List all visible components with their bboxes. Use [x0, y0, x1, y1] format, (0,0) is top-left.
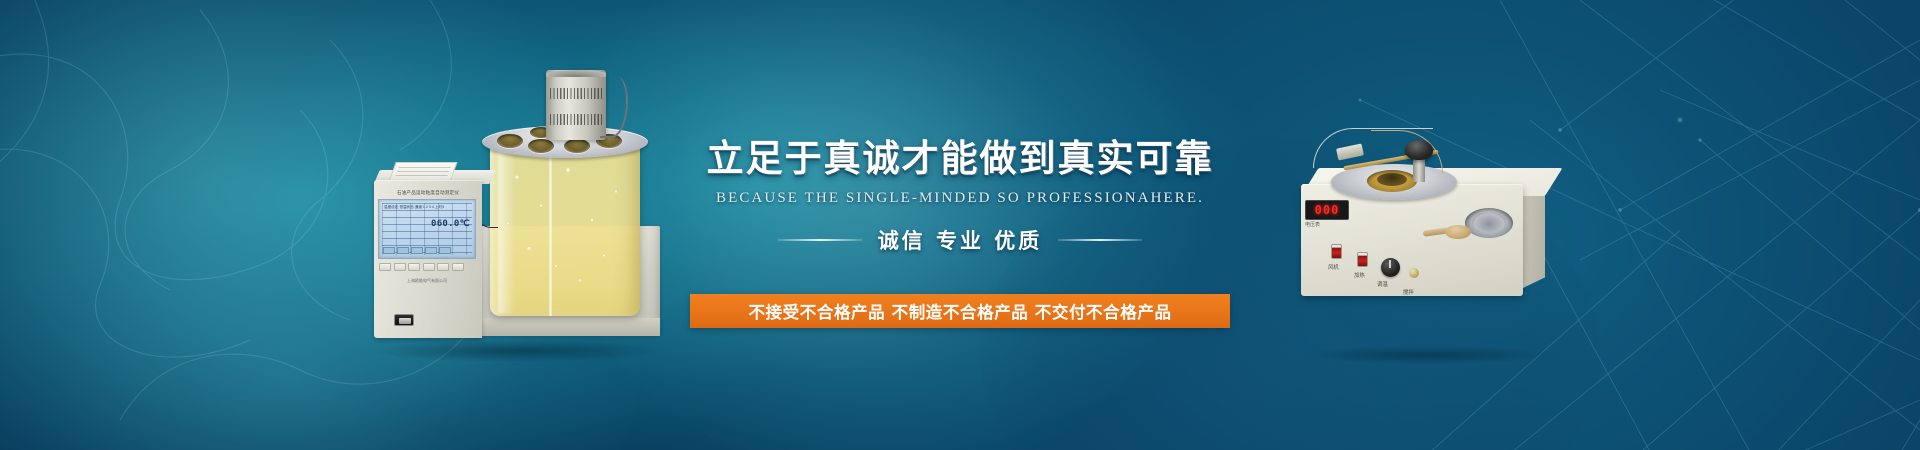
paper-print-lines: [394, 167, 450, 179]
temperature-dial-label: 调温: [1377, 280, 1388, 288]
lcd-temp-value: 060.0: [431, 219, 460, 229]
viscometer-port[interactable]: [528, 139, 554, 153]
divider-line-left: [778, 239, 862, 241]
led-value: 000: [1315, 203, 1340, 217]
lcd-softkey[interactable]: [411, 247, 423, 254]
lcd-softkey[interactable]: [383, 247, 395, 254]
stirrer-rod: [549, 138, 552, 316]
heater-cylinder: [546, 70, 606, 140]
divider-line-right: [1058, 239, 1142, 241]
lcd-softkey[interactable]: [439, 247, 451, 254]
banner-tagline: 诚信 专业 优质: [878, 225, 1043, 255]
keypad-key[interactable]: [423, 263, 435, 271]
banner-tagline-row: 诚信 专业 优质: [690, 225, 1230, 255]
lcd-softkey[interactable]: [397, 247, 409, 254]
printer-paper: [388, 162, 457, 182]
oil-bath-glass: [490, 138, 640, 316]
lcd-temp-unit: ℃: [460, 219, 470, 229]
heater-switch-label: 加热: [1354, 271, 1365, 279]
vent-slots-icon: [550, 88, 602, 99]
device-shadow: [374, 340, 659, 362]
banner-text-block: 立足于真诚才能做到真实可靠 BECAUSE THE SINGLE-MINDED …: [690, 140, 1230, 255]
lcd-softkey[interactable]: [425, 247, 437, 254]
vent-slots-icon: [550, 114, 602, 125]
keypad-key[interactable]: [379, 263, 391, 271]
keypad-key[interactable]: [437, 263, 449, 271]
temperature-dial[interactable]: [1381, 258, 1400, 277]
wooden-handle[interactable]: [1423, 224, 1471, 240]
heater-switch[interactable]: [1357, 252, 1368, 267]
led-display-label: 电压表: [1305, 221, 1320, 228]
temperature-probe-cable: [600, 76, 628, 138]
power-switch[interactable]: [394, 314, 414, 326]
glass-highlight: [498, 142, 516, 313]
sample-well-inner: [1472, 212, 1506, 232]
stir-knob-label: 搅拌: [1403, 288, 1414, 296]
lcd-temperature-readout: 060.0℃: [431, 219, 470, 229]
viscometer-port[interactable]: [497, 134, 523, 148]
manufacturer-label: 上海欧能电气有限公司: [378, 278, 476, 284]
voltage-led-display: 000: [1305, 200, 1349, 220]
device-shadow: [1303, 346, 1553, 364]
quality-slogan-banner: 不接受不合格产品 不制造不合格产品 不交付不合格产品: [690, 294, 1230, 328]
keypad-key[interactable]: [408, 263, 420, 271]
instrument-base-front: [472, 318, 660, 336]
device-flash-point-tester: 000 电压表 风机 加热 调温 搅拌: [1297, 128, 1565, 360]
stirrer-knob[interactable]: [1405, 140, 1433, 160]
handle-grip: [1445, 225, 1471, 239]
promo-banner: 石油产品运动粘度自动测定仪 温度设定 恒温状态 通道 1 2 3 4 上时间 下…: [0, 0, 1920, 450]
lcd-screen[interactable]: 温度设定 恒温状态 通道 1 2 3 4 上时间 下时间 粘度值 计算值 060…: [378, 199, 476, 259]
keypad-key[interactable]: [452, 263, 464, 271]
banner-subheadline: BECAUSE THE SINGLE-MINDED SO PROFESSIONA…: [690, 190, 1230, 207]
banner-headline: 立足于真诚才能做到真实可靠: [690, 140, 1230, 177]
stir-adjust-screw[interactable]: [1409, 268, 1419, 278]
lcd-row-labels: 温度设定 恒温状态 通道 1 2 3 4 上时间 下时间 粘度值 计算值: [384, 205, 444, 210]
viscometer-port[interactable]: [564, 139, 590, 153]
fan-switch-label: 风机: [1328, 263, 1339, 271]
device-viscosity-tester: 石油产品运动粘度自动测定仪 温度设定 恒温状态 通道 1 2 3 4 上时间 下…: [368, 66, 660, 356]
fan-switch[interactable]: [1331, 244, 1342, 259]
keypad-key[interactable]: [394, 263, 406, 271]
console-title: 石油产品运动粘度自动测定仪: [378, 190, 478, 196]
keypad-row: [379, 263, 464, 271]
lcd-softkey-row: [383, 247, 451, 254]
quality-slogan-text: 不接受不合格产品 不制造不合格产品 不交付不合格产品: [748, 299, 1171, 323]
